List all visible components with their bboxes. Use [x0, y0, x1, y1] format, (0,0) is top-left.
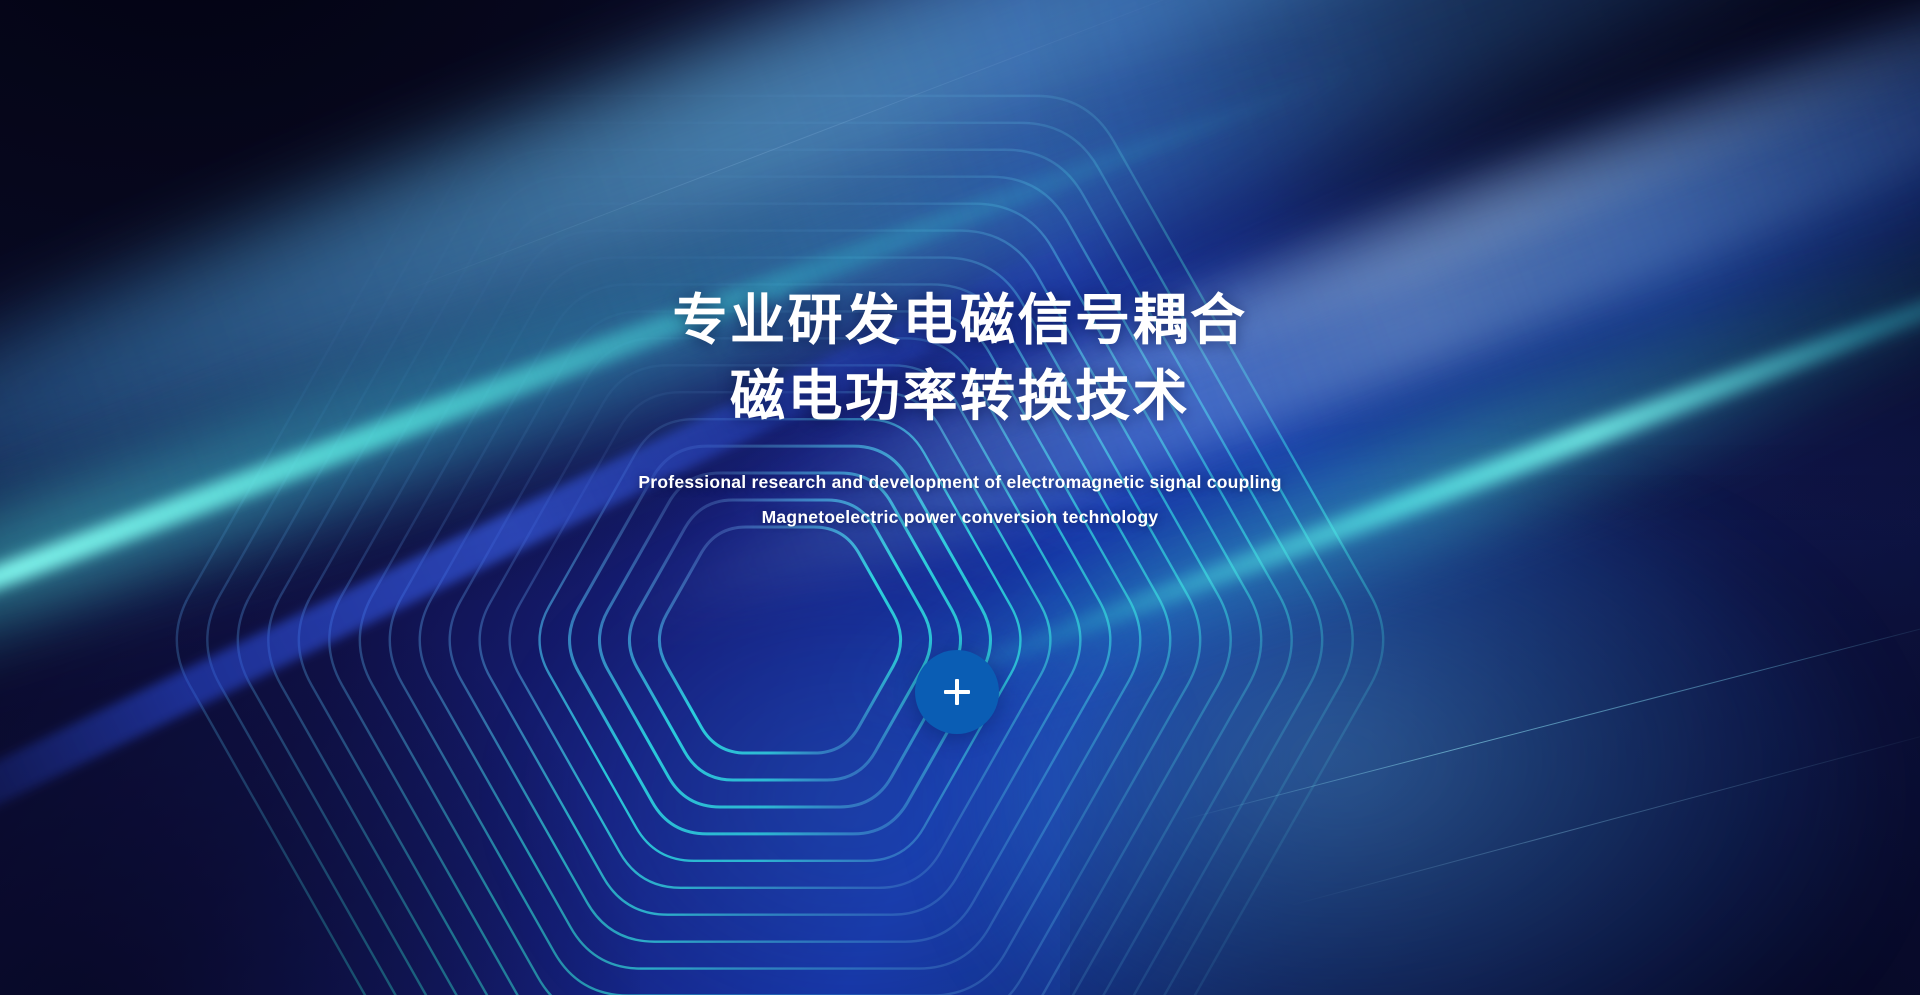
- subtitle-line-2: Magnetoelectric power conversion technol…: [0, 500, 1920, 535]
- page-subtitle: Professional research and development of…: [0, 465, 1920, 535]
- vignette-bottom-left: [0, 555, 640, 995]
- expand-plus-button[interactable]: +: [915, 650, 999, 734]
- title-line-2: 磁电功率转换技术: [0, 359, 1920, 435]
- subtitle-line-1: Professional research and development of…: [0, 465, 1920, 500]
- hero-text-block: 专业研发电磁信号耦合 磁电功率转换技术 Professional researc…: [0, 283, 1920, 535]
- hero-banner: 专业研发电磁信号耦合 磁电功率转换技术 Professional researc…: [0, 0, 1920, 995]
- plus-icon: [944, 679, 970, 705]
- title-line-1: 专业研发电磁信号耦合: [0, 283, 1920, 359]
- page-title: 专业研发电磁信号耦合 磁电功率转换技术: [0, 283, 1920, 435]
